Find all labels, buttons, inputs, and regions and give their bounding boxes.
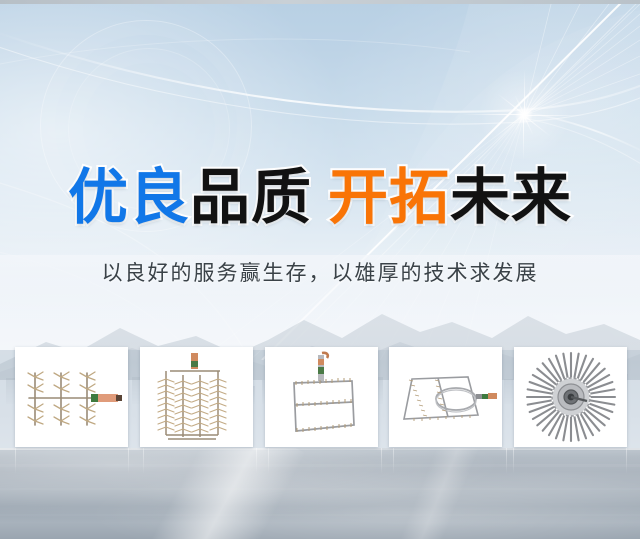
double-row-spike-rack-image	[152, 351, 240, 443]
ground-floor	[0, 448, 640, 539]
headline-spacer	[312, 166, 328, 230]
product-card-row	[15, 347, 627, 447]
ground-sheen	[0, 448, 640, 539]
flat-frame-ring-rack-image	[394, 361, 498, 433]
rectangular-frame-rack-image	[278, 351, 364, 443]
headline-part-4: 未来	[450, 166, 572, 230]
top-border-strip	[0, 0, 640, 4]
banner-headline: 优良品质 开拓未来	[0, 166, 640, 230]
product-card-radial-star-rack[interactable]	[514, 347, 627, 447]
ground-edge-highlight	[0, 448, 640, 450]
product-card-flat-frame-ring-rack[interactable]	[389, 347, 502, 447]
subtitle-text: 以良好的服务赢生存，以雄厚的技术求发展	[102, 261, 539, 285]
branched-comb-rack-image	[19, 353, 124, 441]
headline-part-1: 优良	[68, 166, 190, 230]
headline-part-2: 品质	[190, 166, 312, 230]
product-card-branched-comb-rack[interactable]	[15, 347, 128, 447]
promo-banner: 优良品质 开拓未来 以良好的服务赢生存，以雄厚的技术求发展	[0, 0, 640, 539]
banner-subtitle: 以良好的服务赢生存，以雄厚的技术求发展	[0, 258, 640, 288]
headline-part-3: 开拓	[328, 166, 450, 230]
product-card-double-row-spike-rack[interactable]	[140, 347, 253, 447]
product-card-rectangular-frame-rack[interactable]	[265, 347, 378, 447]
radial-star-rack-image	[525, 351, 617, 443]
